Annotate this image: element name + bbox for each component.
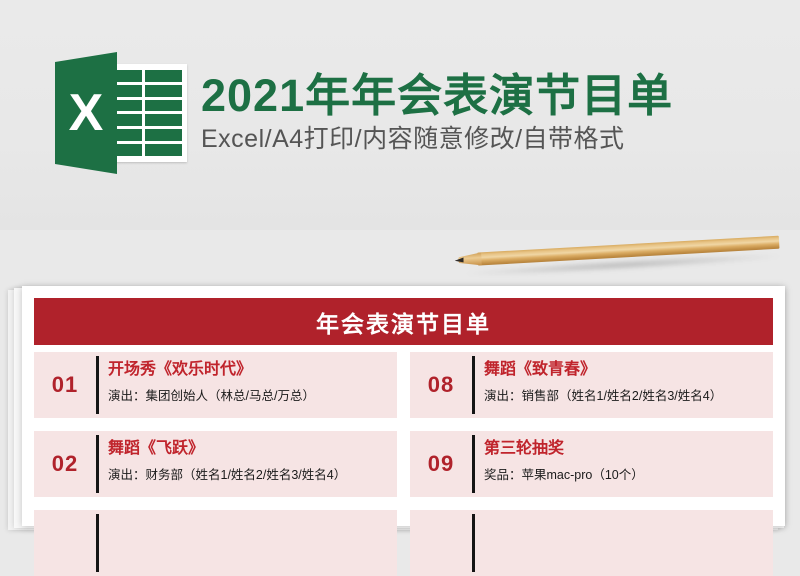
spreadsheet-grid-cells xyxy=(116,70,182,156)
program-item-detail: 奖品：苹果mac-pro（10个） xyxy=(484,468,767,483)
program-item-text: 舞蹈《致青春》演出：销售部（姓名1/姓名2/姓名3/姓名4） xyxy=(475,352,773,418)
program-item[interactable] xyxy=(410,510,773,576)
program-item-text: 舞蹈《飞跃》演出：财务部（姓名1/姓名2/姓名3/姓名4） xyxy=(99,431,397,497)
program-rows: 01开场秀《欢乐时代》演出：集团创始人（林总/马总/万总）08舞蹈《致青春》演出… xyxy=(34,352,773,576)
banner-headline: 2021年年会表演节目单 Excel/A4打印/内容随意修改/自带格式 xyxy=(201,72,673,154)
table-row xyxy=(34,510,773,576)
program-item-number: 01 xyxy=(34,352,96,418)
program-item[interactable]: 08舞蹈《致青春》演出：销售部（姓名1/姓名2/姓名3/姓名4） xyxy=(410,352,773,418)
program-item[interactable] xyxy=(34,510,397,576)
program-sheet: 年会表演节目单 01开场秀《欢乐时代》演出：集团创始人（林总/马总/万总）08舞… xyxy=(22,286,785,526)
program-item-detail: 演出：集团创始人（林总/马总/万总） xyxy=(108,389,391,404)
program-item[interactable]: 01开场秀《欢乐时代》演出：集团创始人（林总/马总/万总） xyxy=(34,352,397,418)
program-item-text xyxy=(99,510,397,576)
table-row: 01开场秀《欢乐时代》演出：集团创始人（林总/马总/万总）08舞蹈《致青春》演出… xyxy=(34,352,773,418)
program-item-text xyxy=(475,510,773,576)
program-item-number: 08 xyxy=(410,352,472,418)
program-item-title: 开场秀《欢乐时代》 xyxy=(108,360,391,380)
program-item-detail: 演出：销售部（姓名1/姓名2/姓名3/姓名4） xyxy=(484,389,767,404)
promo-banner: X 2021年年会表演节目单 Excel/A4打印/内容随意修改/自带格式 xyxy=(0,0,800,230)
pencil-icon xyxy=(451,230,783,286)
table-row: 02舞蹈《飞跃》演出：财务部（姓名1/姓名2/姓名3/姓名4）09第三轮抽奖奖品… xyxy=(34,431,773,497)
excel-x-letter: X xyxy=(55,52,117,174)
program-item-detail: 演出：财务部（姓名1/姓名2/姓名3/姓名4） xyxy=(108,468,391,483)
page-title: 2021年年会表演节目单 xyxy=(201,72,673,119)
program-item-text: 开场秀《欢乐时代》演出：集团创始人（林总/马总/万总） xyxy=(99,352,397,418)
program-item-number xyxy=(34,510,96,576)
program-item-number xyxy=(410,510,472,576)
program-item-number: 09 xyxy=(410,431,472,497)
program-item[interactable]: 02舞蹈《飞跃》演出：财务部（姓名1/姓名2/姓名3/姓名4） xyxy=(34,431,397,497)
program-item-text: 第三轮抽奖奖品：苹果mac-pro（10个） xyxy=(475,431,773,497)
program-item[interactable]: 09第三轮抽奖奖品：苹果mac-pro（10个） xyxy=(410,431,773,497)
table-title-bar: 年会表演节目单 xyxy=(34,298,773,345)
program-item-number: 02 xyxy=(34,431,96,497)
spreadsheet-grid-icon xyxy=(111,64,187,162)
program-item-title: 舞蹈《致青春》 xyxy=(484,360,767,380)
banner-content: X 2021年年会表演节目单 Excel/A4打印/内容随意修改/自带格式 xyxy=(55,52,673,174)
excel-logo-panel: X xyxy=(55,52,117,174)
program-item-title: 第三轮抽奖 xyxy=(484,439,767,459)
excel-logo: X xyxy=(55,52,187,174)
page-subtitle: Excel/A4打印/内容随意修改/自带格式 xyxy=(201,126,673,154)
program-item-title: 舞蹈《飞跃》 xyxy=(108,439,391,459)
